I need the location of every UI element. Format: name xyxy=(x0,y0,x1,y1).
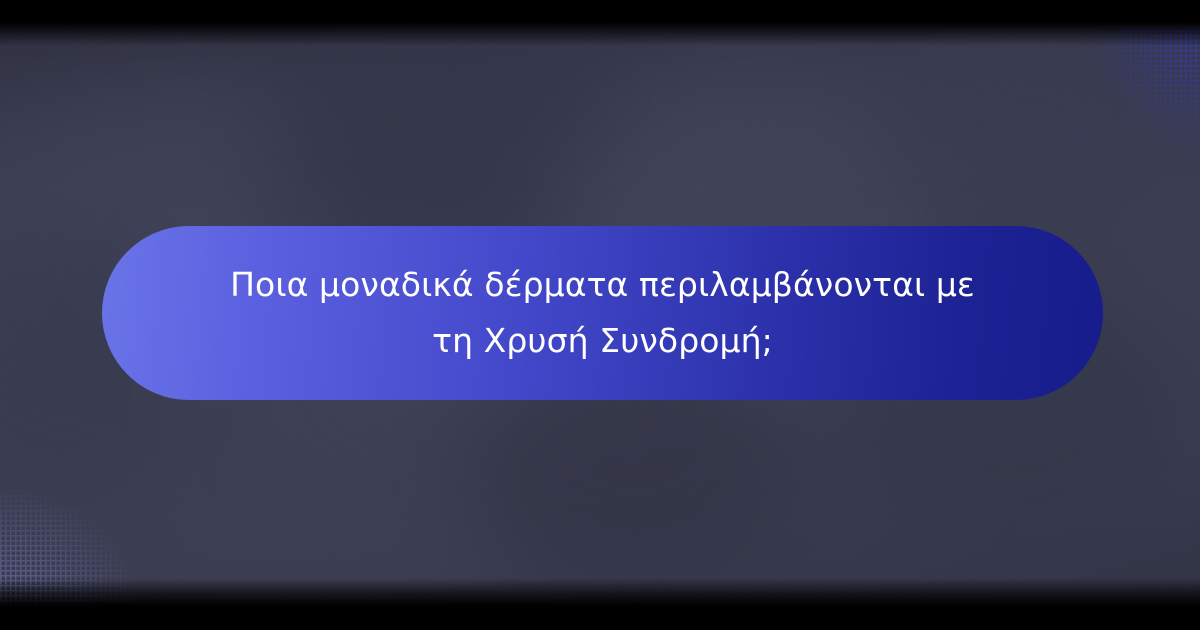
question-card-canvas: Ποια μοναδικά δέρματα περιλαμβάνονται με… xyxy=(0,0,1200,630)
dot-grid-icon-bottom-left xyxy=(0,470,150,630)
question-pill: Ποια μοναδικά δέρματα περιλαμβάνονται με… xyxy=(102,226,1103,400)
question-text: Ποια μοναδικά δέρματα περιλαμβάνονται με… xyxy=(213,257,993,369)
dot-grid-icon-top-right xyxy=(1080,0,1200,180)
